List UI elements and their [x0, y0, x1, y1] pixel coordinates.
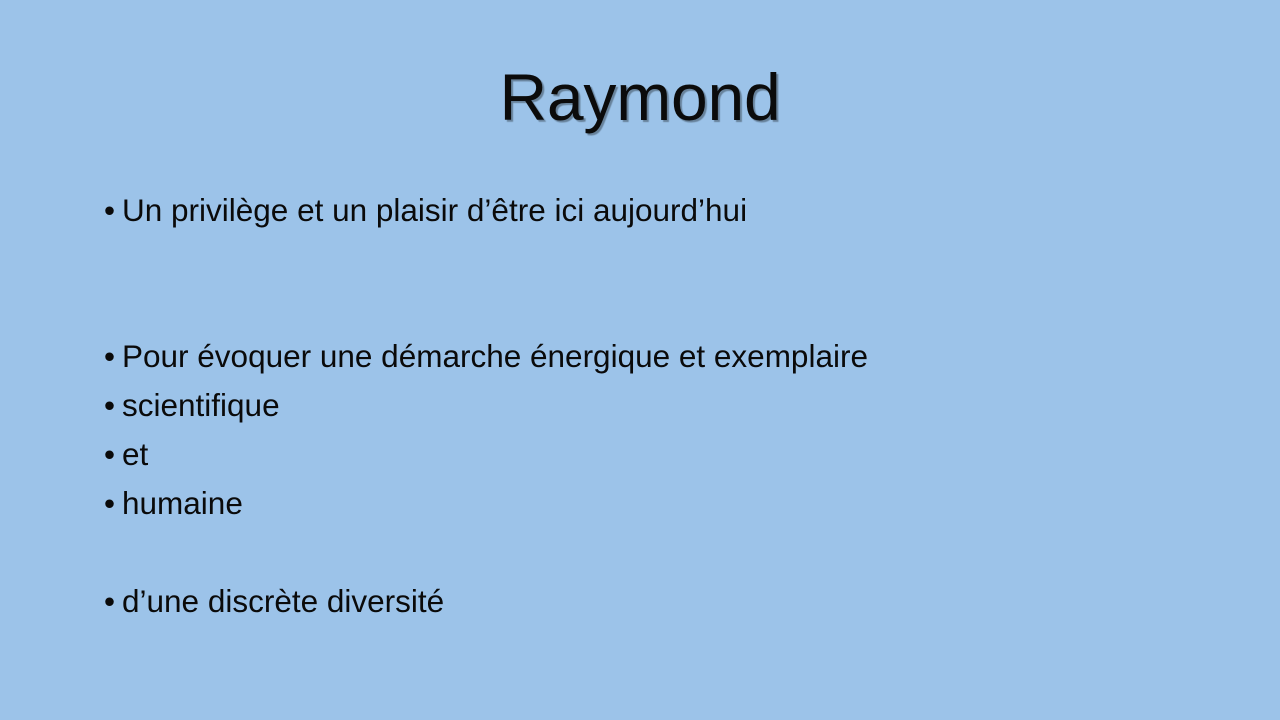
bullet-icon: • [104, 479, 118, 528]
bullet-icon: • [104, 430, 118, 479]
list-item-label: et [122, 430, 148, 479]
bullet-icon: • [104, 332, 118, 381]
list-item: • Un privilège et un plaisir d’être ici … [96, 186, 1216, 235]
bullet-icon: • [104, 577, 118, 626]
list-item: • d’une discrète diversité [96, 577, 1216, 626]
list-item-label: d’une discrète diversité [122, 577, 444, 626]
list-item-label: Pour évoquer une démarche énergique et e… [122, 332, 868, 381]
blank-line [96, 528, 1216, 577]
page-title: Raymond [0, 58, 1280, 136]
list-item: • et [96, 430, 1216, 479]
list-item: • scientifique [96, 381, 1216, 430]
presentation-slide: Raymond • Un privilège et un plaisir d’ê… [0, 0, 1280, 720]
bullet-icon: • [104, 381, 118, 430]
list-item-label: scientifique [122, 381, 280, 430]
list-item-label: Un privilège et un plaisir d’être ici au… [122, 186, 747, 235]
list-item: • humaine [96, 479, 1216, 528]
list-item: • Pour évoquer une démarche énergique et… [96, 332, 1216, 381]
slide-body-content: • Un privilège et un plaisir d’être ici … [96, 186, 1216, 626]
bullet-icon: • [104, 186, 118, 235]
list-item-label: humaine [122, 479, 243, 528]
blank-line [96, 284, 1216, 332]
blank-line [96, 235, 1216, 284]
